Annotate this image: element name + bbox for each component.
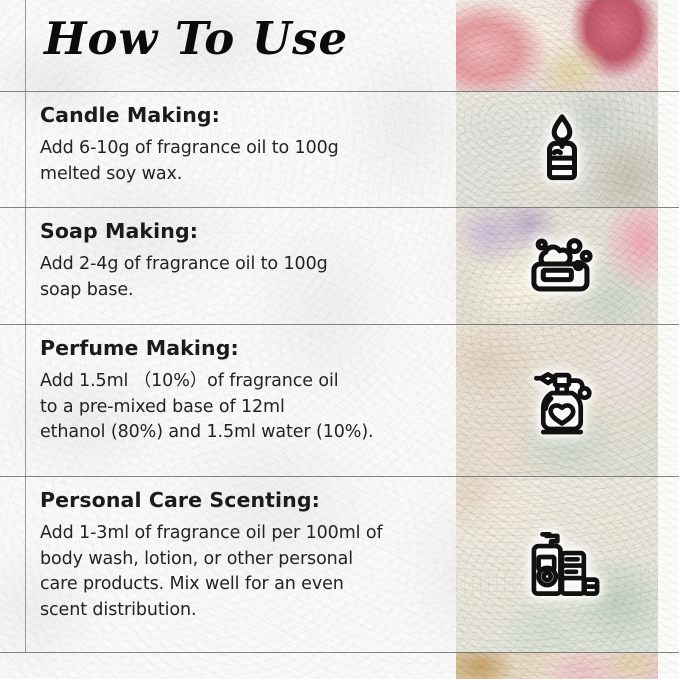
page-title: How To Use xyxy=(44,12,348,65)
section-body: Add 6-10g of fragrance oil to 100g melte… xyxy=(40,136,440,187)
section-heading: Personal Care Scenting: xyxy=(40,488,440,512)
section-body: Add 2-4g of fragrance oil to 100g soap b… xyxy=(40,252,440,303)
right-margin-strip xyxy=(658,0,679,679)
divider-after-title xyxy=(0,91,679,92)
divider-after-soap xyxy=(0,324,679,325)
section-candle-making: Candle Making: Add 6-10g of fragrance oi… xyxy=(40,103,440,187)
divider-after-candle xyxy=(0,207,679,208)
how-to-use-infographic: How To Use Candle Making: Add 6-10g of f… xyxy=(0,0,679,679)
section-perfume-making: Perfume Making: Add 1.5ml （10%）of fragra… xyxy=(40,336,440,446)
section-body: Add 1.5ml （10%）of fragrance oil to a pre… xyxy=(40,369,440,446)
section-soap-making: Soap Making: Add 2-4g of fragrance oil t… xyxy=(40,219,440,303)
section-personal-care-scenting: Personal Care Scenting: Add 1-3ml of fra… xyxy=(40,488,440,624)
divider-after-perfume xyxy=(0,476,679,477)
section-heading: Candle Making: xyxy=(40,103,440,127)
soap-bar-icon xyxy=(516,218,608,310)
lotion-bottle-icon xyxy=(516,518,608,610)
left-vertical-rule xyxy=(25,0,26,652)
divider-bottom xyxy=(0,652,679,653)
section-body: Add 1-3ml of fragrance oil per 100ml of … xyxy=(40,521,440,624)
section-heading: Soap Making: xyxy=(40,219,440,243)
candle-icon xyxy=(516,102,608,194)
section-heading: Perfume Making: xyxy=(40,336,440,360)
perfume-bottle-icon xyxy=(516,358,608,450)
